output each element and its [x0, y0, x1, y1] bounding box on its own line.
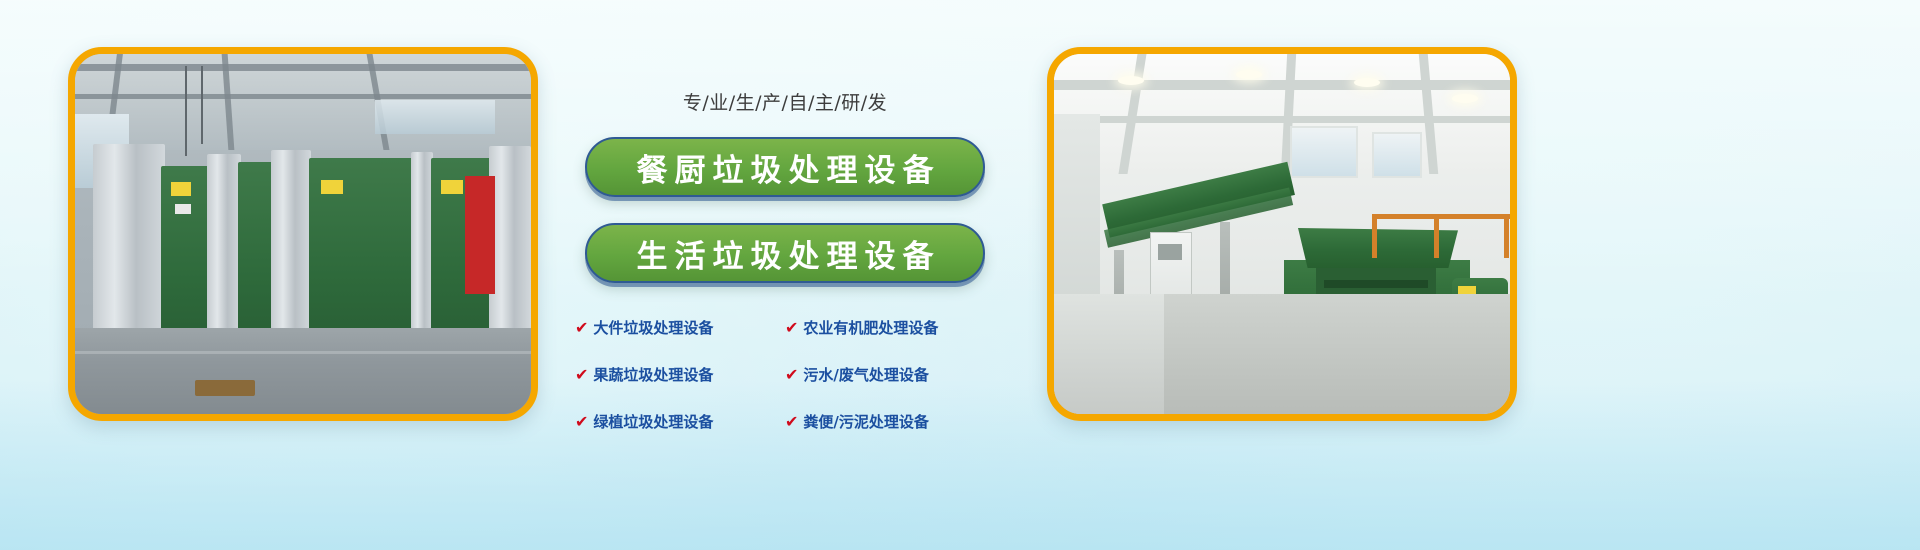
bullet-list: ✔ 大件垃圾处理设备 ✔ 农业有机肥处理设备 ✔ 果蔬垃圾处理设备 ✔ 污水/废…	[575, 317, 995, 432]
check-icon: ✔	[785, 320, 798, 336]
list-item[interactable]: ✔ 农业有机肥处理设备	[785, 317, 995, 338]
check-icon: ✔	[575, 367, 588, 383]
promo-banner: 专/业/生/产/自/主/研/发 餐厨垃圾处理设备 生活垃圾处理设备 ✔ 大件垃圾…	[0, 0, 1920, 550]
list-item[interactable]: ✔ 绿植垃圾处理设备	[575, 411, 785, 432]
list-item-label: 绿植垃圾处理设备	[593, 411, 713, 432]
pill-button-domestic-waste[interactable]: 生活垃圾处理设备	[585, 223, 985, 283]
list-item[interactable]: ✔ 粪便/污泥处理设备	[785, 411, 995, 432]
list-item[interactable]: ✔ 污水/废气处理设备	[785, 364, 995, 385]
list-item-label: 果蔬垃圾处理设备	[593, 364, 713, 385]
check-icon: ✔	[785, 414, 798, 430]
photo-left-equipment[interactable]	[68, 47, 538, 421]
photo-right-equipment[interactable]	[1047, 47, 1517, 421]
photo-right-scene	[1054, 54, 1510, 414]
center-content: 专/业/生/产/自/主/研/发 餐厨垃圾处理设备 生活垃圾处理设备 ✔ 大件垃圾…	[560, 0, 1010, 550]
list-item-label: 粪便/污泥处理设备	[803, 411, 928, 432]
photo-left-scene	[75, 54, 531, 414]
list-item-label: 农业有机肥处理设备	[803, 317, 938, 338]
pill-button-kitchen-waste[interactable]: 餐厨垃圾处理设备	[585, 137, 985, 197]
list-item[interactable]: ✔ 果蔬垃圾处理设备	[575, 364, 785, 385]
list-item-label: 大件垃圾处理设备	[593, 317, 713, 338]
tagline: 专/业/生/产/自/主/研/发	[683, 88, 887, 115]
list-item[interactable]: ✔ 大件垃圾处理设备	[575, 317, 785, 338]
check-icon: ✔	[575, 320, 588, 336]
check-icon: ✔	[575, 414, 588, 430]
check-icon: ✔	[785, 367, 798, 383]
list-item-label: 污水/废气处理设备	[803, 364, 928, 385]
